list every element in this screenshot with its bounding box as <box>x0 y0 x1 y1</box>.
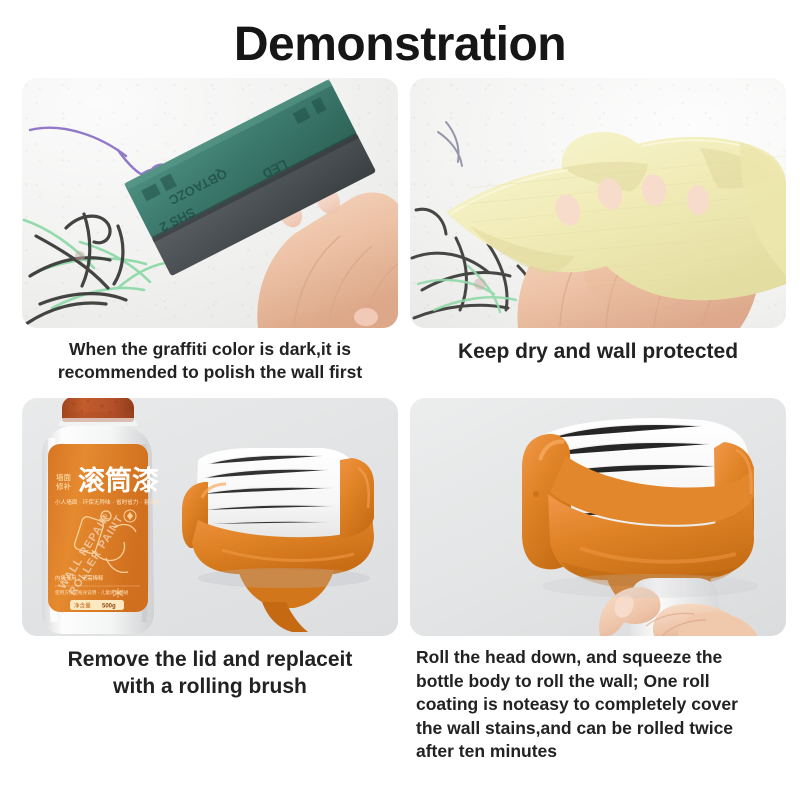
caption-line: recommended to polish the wall first <box>24 361 396 384</box>
panel-roll-wall: Roll the head down, and squeeze the bott… <box>410 398 786 763</box>
svg-text:墙面: 墙面 <box>56 472 71 482</box>
svg-text:500g: 500g <box>102 604 116 610</box>
panel-polish-wall-photo: QBTAOZC SHS 2 LED <box>22 78 398 328</box>
svg-text:净含量: 净含量 <box>74 602 91 610</box>
wiping-scene-illustration <box>410 78 786 328</box>
panel-replace-lid-photo: 滚筒漆 墙面 修补 小人墙面 · 环保无异味 · 省时省力 · 易涂刷 <box>22 398 398 636</box>
caption-line: Roll the head down, and squeeze the <box>416 646 784 669</box>
panel-replace-lid: 滚筒漆 墙面 修补 小人墙面 · 环保无异味 · 省时省力 · 易涂刷 <box>22 398 398 763</box>
page-title: Demonstration <box>0 0 800 78</box>
panel-keep-dry: Keep dry and wall protected <box>410 78 786 384</box>
svg-text:内墙专用 · 无需稀释: 内墙专用 · 无需稀释 <box>55 574 104 582</box>
bottle-and-brush-illustration: 滚筒漆 墙面 修补 小人墙面 · 环保无异味 · 省时省力 · 易涂刷 <box>22 398 398 636</box>
caption-line: Remove the lid and replaceit <box>24 646 396 673</box>
caption-line: Keep dry and wall protected <box>412 338 784 365</box>
caption-line: the wall stains,and can be rolled twice <box>416 717 784 740</box>
svg-text:修补: 修补 <box>56 481 71 491</box>
panel-polish-wall: QBTAOZC SHS 2 LED <box>22 78 398 384</box>
svg-text:R: R <box>103 515 108 521</box>
svg-text:小人墙面 · 环保无异味 · 省时省力 · 易涂刷: 小人墙面 · 环保无异味 · 省时省力 · 易涂刷 <box>55 498 161 506</box>
demonstration-infographic: Demonstration <box>0 0 800 800</box>
product-label: 滚筒漆 墙面 修补 小人墙面 · 环保无异味 · 省时省力 · 易涂刷 <box>48 444 161 612</box>
svg-text:滚筒漆: 滚筒漆 <box>78 465 159 497</box>
panel-row-bottom: 滚筒漆 墙面 修补 小人墙面 · 环保无异味 · 省时省力 · 易涂刷 <box>22 398 778 763</box>
panel-polish-wall-caption: When the graffiti color is dark,it is re… <box>22 328 398 384</box>
panel-roll-wall-photo <box>410 398 786 636</box>
caption-line: with a rolling brush <box>24 673 396 700</box>
caption-line: after ten minutes <box>416 740 784 763</box>
rolling-scene-illustration <box>410 398 786 636</box>
caption-line: When the graffiti color is dark,it is <box>24 338 396 361</box>
panel-replace-lid-caption: Remove the lid and replaceit with a roll… <box>22 636 398 701</box>
paint-bottle: 滚筒漆 墙面 修补 小人墙面 · 环保无异味 · 省时省力 · 易涂刷 <box>42 398 161 634</box>
caption-line: coating is noteasy to completely cover <box>416 693 784 716</box>
panel-keep-dry-caption: Keep dry and wall protected <box>410 328 786 365</box>
panel-row-top: QBTAOZC SHS 2 LED <box>22 78 778 384</box>
panel-roll-wall-caption: Roll the head down, and squeeze the bott… <box>410 636 786 763</box>
panel-keep-dry-photo <box>410 78 786 328</box>
sanding-scene-illustration: QBTAOZC SHS 2 LED <box>22 78 398 328</box>
roller-brush <box>182 448 374 632</box>
demo-panel-grid: QBTAOZC SHS 2 LED <box>0 78 800 763</box>
caption-line: bottle body to roll the wall; One roll <box>416 670 784 693</box>
